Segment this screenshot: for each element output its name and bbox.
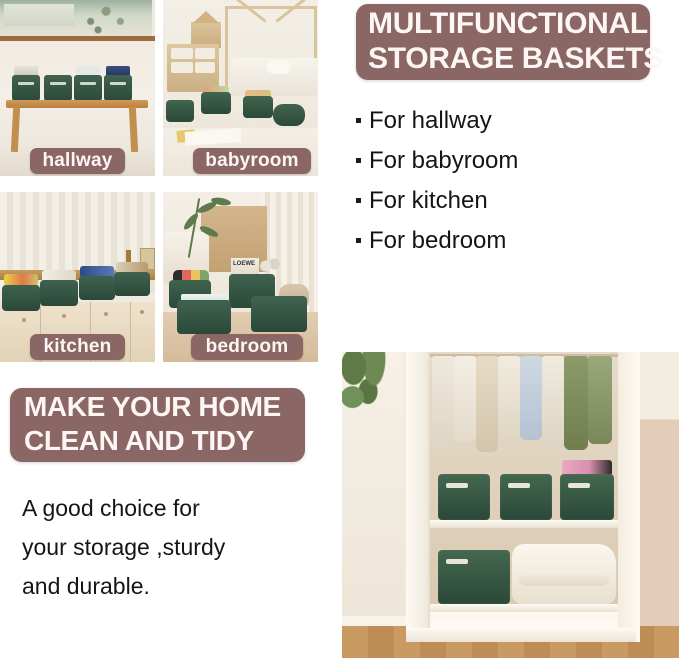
caption-label: hallway (42, 150, 112, 172)
photo-wardrobe (342, 352, 679, 658)
storage-basket (500, 474, 552, 520)
storage-basket (560, 474, 614, 520)
wardrobe-shelf (418, 520, 624, 528)
hanging-garment (588, 356, 612, 444)
caption-chip-babyroom: babyroom (193, 148, 311, 174)
wardrobe-door-right (618, 352, 640, 642)
list-item: For hallway (356, 108, 656, 134)
storage-basket (177, 300, 231, 334)
hanging-garment (542, 356, 564, 448)
window-ledge (0, 36, 155, 41)
folded-comforter (512, 544, 616, 604)
plant (72, 1, 134, 35)
plant (342, 352, 400, 434)
wardrobe-plinth (406, 628, 636, 642)
body-line-2: your storage ,sturdy (22, 528, 312, 567)
title-badge: MULTIFUNCTIONAL STORAGE BASKETS (356, 4, 650, 80)
photo-bedroom: LOEWE bedroom (163, 192, 318, 362)
storage-basket (201, 92, 231, 114)
cabinet-knob (62, 314, 66, 318)
body-copy: A good choice for your storage ,sturdy a… (22, 489, 312, 606)
storage-basket (12, 75, 40, 101)
shelf-bin (195, 62, 215, 73)
pillow (267, 60, 291, 74)
dried-flowers (259, 256, 281, 276)
feature-label: For bedroom (369, 228, 506, 254)
storage-basket (438, 550, 510, 604)
list-item: For kitchen (356, 188, 656, 214)
photo-kitchen: kitchen (0, 192, 155, 362)
storage-basket (79, 276, 115, 300)
photo-hallway: hallway (0, 0, 155, 176)
storage-basket (2, 285, 40, 311)
bullet-square-icon (356, 238, 361, 243)
infographic-canvas: hallway babyroom (0, 0, 679, 658)
cabinet-knob (22, 318, 26, 322)
shelf-bin (171, 62, 193, 73)
storage-basket (104, 75, 132, 101)
wardrobe-shelf (418, 604, 624, 612)
feature-label: For hallway (369, 108, 492, 134)
caption-label: bedroom (206, 336, 289, 358)
slogan-badge: MAKE YOUR HOME CLEAN AND TIDY (10, 388, 305, 462)
feature-list: For hallway For babyroom For kitchen For… (356, 108, 656, 268)
wardrobe-scene (342, 352, 679, 658)
list-item: For bedroom (356, 228, 656, 254)
body-line-3: and durable. (22, 567, 312, 606)
bullet-square-icon (356, 158, 361, 163)
feature-label: For kitchen (369, 188, 488, 214)
storage-basket (273, 104, 305, 126)
title-line-1: MULTIFUNCTIONAL (368, 6, 638, 41)
caption-label: kitchen (44, 336, 112, 358)
caption-chip-kitchen: kitchen (30, 334, 125, 360)
window-glass (4, 4, 74, 26)
shelf-bin (195, 48, 215, 59)
slogan-line-1: MAKE YOUR HOME (24, 390, 293, 424)
bullet-square-icon (356, 118, 361, 123)
magazine-title: LOEWE (233, 261, 255, 267)
list-item: For babyroom (356, 148, 656, 174)
title-line-2: STORAGE BASKETS (368, 41, 638, 76)
storage-basket (438, 474, 490, 520)
storage-basket (44, 75, 72, 101)
hanging-garment (454, 356, 476, 442)
storage-basket (74, 75, 102, 101)
hanging-garment (476, 356, 498, 452)
caption-chip-hallway: hallway (30, 148, 125, 174)
caption-label: babyroom (205, 150, 298, 172)
skirting-board (342, 616, 406, 626)
hanging-garment (520, 356, 542, 440)
body-line-1: A good choice for (22, 489, 312, 528)
hanging-garment (432, 356, 454, 448)
wardrobe-door-left (406, 352, 430, 642)
storage-basket (40, 280, 78, 306)
storage-basket (114, 272, 150, 296)
photo-babyroom: babyroom (163, 0, 318, 176)
cabinet-knob (140, 310, 144, 314)
storage-basket (166, 100, 194, 122)
caption-chip-bedroom: bedroom (191, 334, 303, 360)
hanging-garment (564, 356, 588, 450)
cabinet-seam (130, 302, 131, 362)
bullet-square-icon (356, 198, 361, 203)
shelf-bin (171, 48, 193, 59)
hanging-garment (498, 356, 520, 446)
slogan-line-2: CLEAN AND TIDY (24, 424, 293, 458)
cabinet-knob (104, 312, 108, 316)
storage-basket (251, 296, 307, 332)
storage-basket (243, 96, 273, 118)
feature-label: For babyroom (369, 148, 518, 174)
wooden-bench (6, 100, 148, 108)
